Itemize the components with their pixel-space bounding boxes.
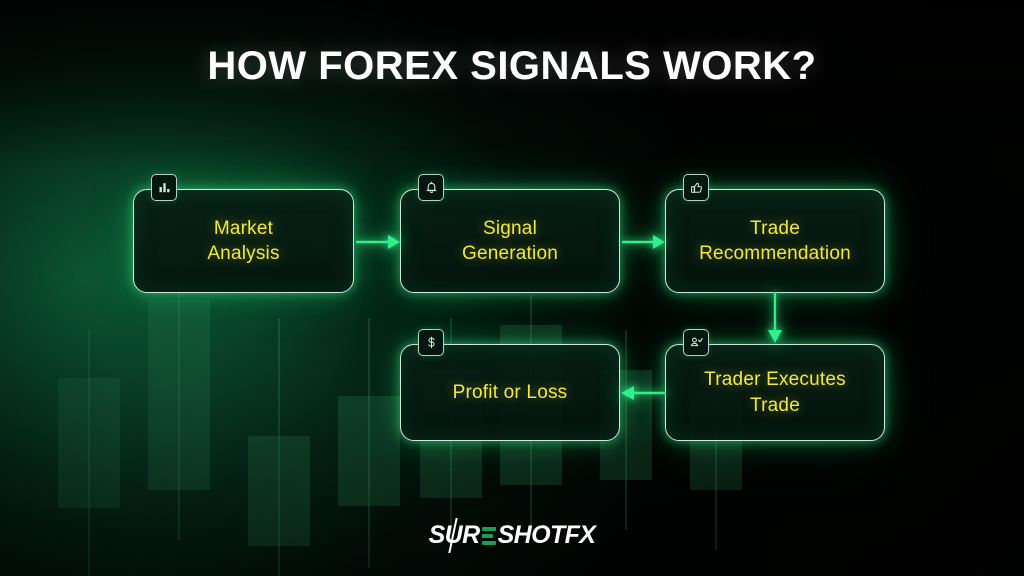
logo-text-part2: SHOTFX (498, 521, 596, 550)
connector-arrow-left (620, 382, 667, 404)
dollar-sign-icon (418, 329, 444, 356)
flow-node-trader-executes-trade[interactable]: Trader Executes Trade (665, 344, 885, 441)
flow-node-label: Trader Executes Trade (694, 367, 856, 418)
thumbs-up-icon (683, 174, 709, 201)
flow-node-signal-generation[interactable]: Signal Generation (400, 189, 620, 293)
user-check-icon (683, 329, 709, 356)
bar-chart-icon (151, 174, 177, 201)
infographic-canvas: HOW FOREX SIGNALS WORK? Market Analysis … (0, 0, 1024, 576)
connector-arrow-right-1 (355, 231, 401, 253)
flow-node-profit-or-loss[interactable]: Profit or Loss (400, 344, 620, 441)
flow-node-label: Signal Generation (452, 216, 568, 267)
connector-arrow-right-2 (621, 231, 666, 253)
flow-node-market-analysis[interactable]: Market Analysis (133, 189, 354, 293)
flow-node-label: Trade Recommendation (689, 216, 861, 267)
logo-letter-e-icon (482, 527, 496, 545)
page-title: HOW FOREX SIGNALS WORK? (0, 44, 1024, 89)
brand-logo[interactable]: SUR SHOTFX (0, 521, 1024, 550)
connector-arrow-down (764, 292, 786, 344)
flow-node-label: Profit or Loss (443, 380, 578, 405)
flow-node-trade-recommendation[interactable]: Trade Recommendation (665, 189, 885, 293)
logo-text-part1: SUR (429, 521, 480, 550)
bell-icon (418, 174, 444, 201)
flow-node-label: Market Analysis (197, 216, 289, 267)
logo-wordmark: SUR SHOTFX (429, 521, 596, 550)
